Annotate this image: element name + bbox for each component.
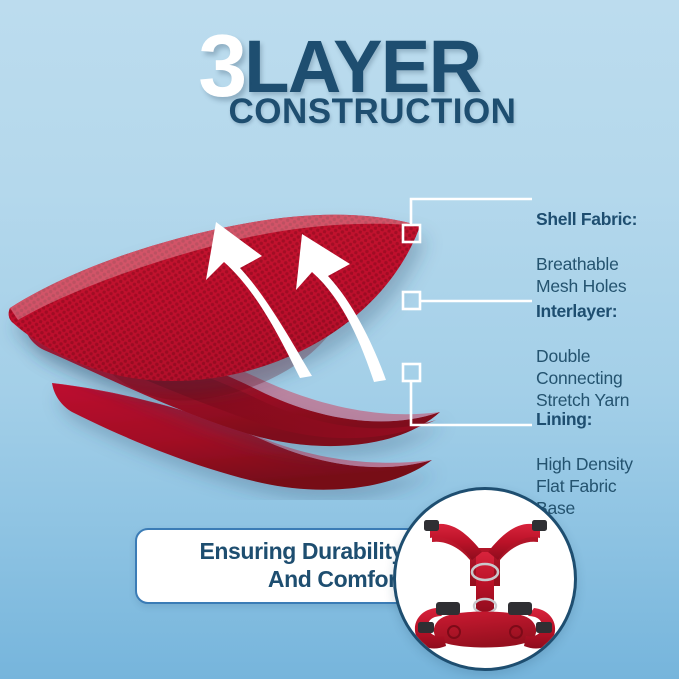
title-number: 3	[198, 31, 244, 101]
harness-adjuster-left	[424, 520, 439, 531]
tagline-text: Ensuring Durability And Comfort	[199, 538, 404, 593]
callout-interlayer-title: Interlayer:	[536, 300, 629, 322]
tagline-banner: Ensuring Durability And Comfort	[135, 528, 425, 604]
harness-buckle-left	[436, 602, 460, 615]
title-main-row: 3 LAYER	[0, 26, 679, 96]
harness-slider-right	[536, 622, 552, 633]
callout-shell-fabric-title: Shell Fabric:	[536, 208, 637, 230]
callout-lining-body: High Density Flat Fabric Base	[536, 453, 633, 520]
title-layer-word: LAYER	[244, 37, 481, 96]
title-subtitle: CONSTRUCTION	[0, 92, 679, 132]
infographic-canvas: 3 LAYER CONSTRUCTION	[0, 0, 679, 679]
product-image-circle	[393, 487, 577, 671]
harness-slider-left	[418, 622, 434, 633]
harness-adjuster-right	[532, 520, 547, 531]
fabric-layer-diagram	[0, 150, 470, 500]
page-title: 3 LAYER CONSTRUCTION	[0, 26, 679, 132]
callout-lining-title: Lining:	[536, 408, 633, 430]
harness-center-strap	[476, 552, 494, 614]
harness-buckle-right	[508, 602, 532, 615]
red-dog-harness-illustration	[396, 490, 574, 668]
